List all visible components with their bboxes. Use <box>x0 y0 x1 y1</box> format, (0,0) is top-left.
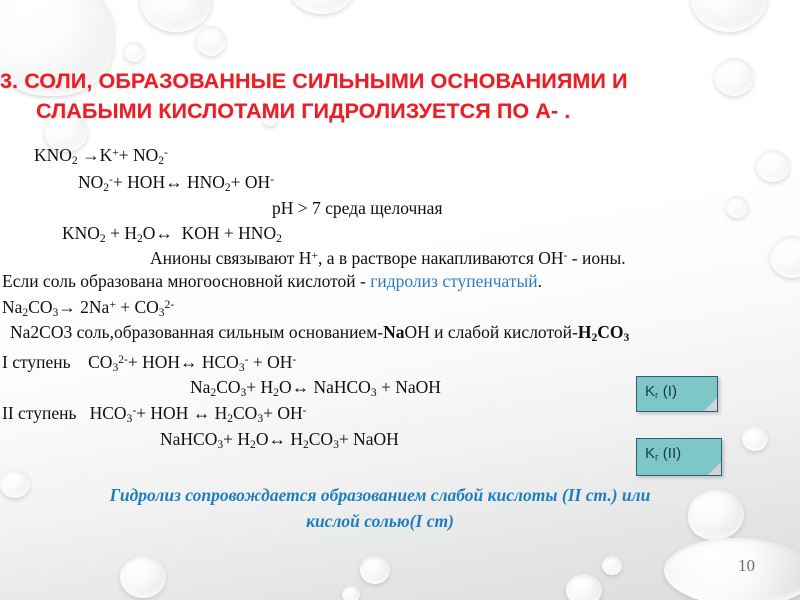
ph-statement: pH > 7 среда щелочная <box>272 198 443 219</box>
water-droplet-icon <box>290 0 354 14</box>
water-droplet-icon <box>196 26 226 56</box>
stepwise-text-tail: . <box>538 271 542 291</box>
stage1-ionic-equation: I ступень CO32-+ HOH↔ HCO3- + OH- <box>2 352 296 374</box>
equation-kno2-dissociation: KNO2 →K++ NO2- <box>34 145 168 167</box>
water-droplet-icon <box>756 150 790 182</box>
conclusion-line2: кислой солью(I ст) <box>0 508 760 534</box>
water-droplet-icon <box>140 0 212 32</box>
water-droplet-icon <box>690 0 768 32</box>
page-number: 10 <box>738 556 755 576</box>
callout-kg-one-label: Kг (I) <box>645 383 677 400</box>
na2co3-desc-bold-acid: H2CO3 <box>578 322 629 342</box>
slide-canvas: 3. СОЛИ, ОБРАЗОВАННЫЕ СИЛЬНЫМИ ОСНОВАНИЯ… <box>0 0 800 600</box>
slide-title-line1: 3. СОЛИ, ОБРАЗОВАННЫЕ СИЛЬНЫМИ ОСНОВАНИЯ… <box>0 69 628 93</box>
equation-kno2-hydrolysis-molecular: KNO2 + H2O↔ KOH + HNO2 <box>62 223 282 245</box>
callout-kg-one[interactable]: Kг (I) <box>636 376 718 412</box>
callout-kg-two[interactable]: Kг (II) <box>636 438 722 476</box>
stepwise-hydrolysis-statement: Если соль образована многоосновной кисло… <box>2 271 542 292</box>
stage1-molecular-equation: Na2CO3+ H2O↔ NaHCO3 + NaOH <box>190 377 441 399</box>
equation-no2-hydrolysis-ionic: NO2-+ HOH↔ HNO2+ OH- <box>78 172 274 194</box>
stepwise-text-highlight: гидролиз ступенчатый <box>370 271 537 291</box>
water-droplet-icon <box>742 426 768 451</box>
conclusion-text: Гидролиз сопровождается образованием сла… <box>0 482 760 534</box>
na2co3-desc-bold-na: Na <box>383 322 404 342</box>
anions-statement: Анионы связывают H+, а в растворе накапл… <box>150 248 626 269</box>
stage2-ionic-equation: II ступень HCO3-+ HOH ↔ H2CO3+ OH- <box>2 403 306 425</box>
water-droplet-icon <box>726 196 748 218</box>
stage2-label: II ступень <box>2 403 76 423</box>
callout-kg-two-label: Kг (II) <box>645 445 681 462</box>
equation-na2co3-dissociation: Na2CO3→ 2Na+ + CO32- <box>2 297 174 319</box>
na2co3-desc-part1: Na2CO3 соль,образованная сильным основан… <box>10 322 383 342</box>
slide-title-line2: СЛАБЫМИ КИСЛОТАМИ ГИДРОЛИЗУЕТСЯ ПО А- . <box>0 96 740 126</box>
water-droplet-icon <box>342 586 360 600</box>
stepwise-text-plain: Если соль образована многоосновной кисло… <box>2 271 370 291</box>
water-droplet-icon <box>602 556 622 575</box>
stage2-molecular-equation: NaHCO3+ H2O↔ H2CO3+ NaOH <box>160 429 399 451</box>
water-droplet-icon <box>566 574 602 600</box>
na2co3-description: Na2CO3 соль,образованная сильным основан… <box>10 322 629 344</box>
slide-title: 3. СОЛИ, ОБРАЗОВАННЫЕ СИЛЬНЫМИ ОСНОВАНИЯ… <box>0 66 740 126</box>
stage1-label: I ступень <box>2 352 71 372</box>
water-droplet-icon <box>664 538 800 600</box>
water-droplet-icon <box>120 556 166 598</box>
water-droplet-icon <box>770 236 800 278</box>
water-droplet-icon <box>360 556 390 584</box>
page-fold-icon <box>704 398 717 411</box>
water-droplet-icon <box>124 42 144 62</box>
na2co3-desc-part2: OH и слабой кислотой- <box>405 322 578 342</box>
page-fold-icon <box>708 462 721 475</box>
conclusion-line1: Гидролиз сопровождается образованием сла… <box>0 482 760 508</box>
